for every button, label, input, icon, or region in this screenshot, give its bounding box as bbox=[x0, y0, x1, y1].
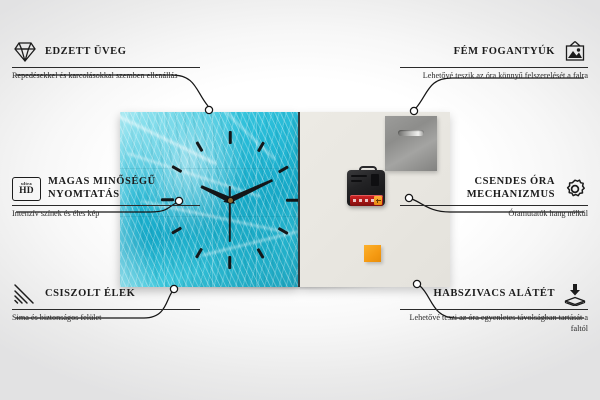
ultra-hd-large-text: HD bbox=[19, 187, 34, 197]
picture-hanger-icon bbox=[562, 40, 588, 64]
feature-polished-edges[interactable]: CSISZOLT ÉLEK Sima és biztonságos felüle… bbox=[12, 282, 200, 324]
foam-pad bbox=[364, 245, 381, 262]
hanger-keyhole-slot bbox=[398, 130, 424, 136]
feature-metal-handles[interactable]: FÉM FOGANTYÚK Lehetővé teszik az óra kön… bbox=[400, 40, 588, 82]
feature-subtitle: Sima és biztonságos felület bbox=[12, 309, 200, 324]
feature-title: FÉM FOGANTYÚK bbox=[454, 46, 555, 59]
gear-icon bbox=[562, 177, 588, 201]
feature-title: CSISZOLT ÉLEK bbox=[45, 288, 135, 301]
ultra-hd-icon: ultra HD bbox=[12, 177, 41, 201]
feature-foam-pad[interactable]: HABSZIVACS ALÁTÉT Lehetővé teszi az óra … bbox=[400, 282, 588, 335]
polished-edges-icon bbox=[12, 282, 38, 306]
battery-label bbox=[353, 199, 375, 202]
feature-subtitle: Óramutatók hang nélkül bbox=[400, 205, 588, 220]
feature-title: HABSZIVACS ALÁTÉT bbox=[434, 288, 556, 301]
feature-subtitle: Repedésekkel és karcolásokkal szemben el… bbox=[12, 67, 200, 82]
feature-title: CSENDES ÓRA MECHANIZMUS bbox=[400, 176, 555, 202]
feature-high-quality-print[interactable]: ultra HD MAGAS MINŐSÉGŰ NYOMTATÁS Intenz… bbox=[12, 176, 200, 220]
feature-subtitle: Intenzív színek és éles kép bbox=[12, 205, 200, 220]
feature-tempered-glass[interactable]: EDZETT ÜVEG Repedésekkel és karcolásokka… bbox=[12, 40, 200, 82]
feature-subtitle: Lehetővé teszi az óra egyenletes távolsá… bbox=[400, 309, 588, 335]
clock-center-hub bbox=[228, 198, 233, 203]
feature-title: EDZETT ÜVEG bbox=[45, 46, 126, 59]
diamond-icon bbox=[12, 40, 38, 64]
feature-subtitle: Lehetővé teszik az óra könnyű felszerelé… bbox=[400, 67, 588, 82]
battery-positive-terminal bbox=[374, 196, 382, 205]
feature-title: MAGAS MINŐSÉGŰ NYOMTATÁS bbox=[48, 176, 200, 202]
clock-mechanism bbox=[347, 166, 385, 206]
infographic-canvas: EDZETT ÜVEG Repedésekkel és karcolásokka… bbox=[0, 0, 600, 400]
feature-silent-mechanism[interactable]: CSENDES ÓRA MECHANIZMUS Óramutatók hang … bbox=[400, 176, 588, 220]
metal-hanger-plate bbox=[385, 116, 437, 171]
mechanism-body bbox=[347, 170, 385, 206]
battery bbox=[350, 195, 383, 206]
foam-pad-icon bbox=[562, 282, 588, 306]
